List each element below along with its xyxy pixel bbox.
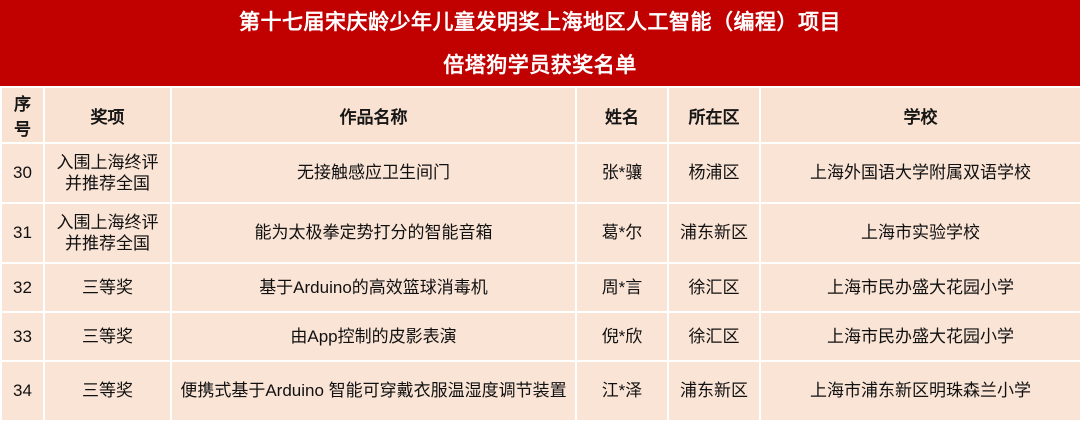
cell-school: 上海市浦东新区明珠森兰小学: [760, 361, 1080, 421]
table-row: 30 入围上海终评并推荐全国 无接触感应卫生间门 张*骧 杨浦区 上海外国语大学…: [1, 143, 1080, 203]
cell-index: 33: [1, 312, 44, 361]
column-header-school: 学校: [760, 87, 1080, 143]
cell-name: 张*骧: [576, 143, 668, 203]
title-banner: 第十七届宋庆龄少年儿童发明奖上海地区人工智能（编程）项目 倍塔狗学员获奖名单: [0, 0, 1080, 86]
column-header-index: 序号: [1, 87, 44, 143]
column-header-award: 奖项: [44, 87, 171, 143]
cell-district: 杨浦区: [668, 143, 760, 203]
table-row: 32 三等奖 基于Arduino的高效篮球消毒机 周*言 徐汇区 上海市民办盛大…: [1, 263, 1080, 312]
table-header: 序号 奖项 作品名称 姓名 所在区 学校: [1, 87, 1080, 143]
cell-district: 徐汇区: [668, 312, 760, 361]
cell-district: 浦东新区: [668, 203, 760, 263]
banner-title-primary: 第十七届宋庆龄少年儿童发明奖上海地区人工智能（编程）项目: [239, 11, 841, 34]
award-table: 序号 奖项 作品名称 姓名 所在区 学校 30 入围上海终评并推荐全国 无接触感…: [0, 86, 1080, 422]
cell-school: 上海市民办盛大花园小学: [760, 263, 1080, 312]
table-row: 34 三等奖 便携式基于Arduino 智能可穿戴衣服温湿度调节装置 江*泽 浦…: [1, 361, 1080, 421]
cell-award: 三等奖: [44, 263, 171, 312]
cell-district: 浦东新区: [668, 361, 760, 421]
cell-work: 能为太极拳定势打分的智能音箱: [171, 203, 576, 263]
cell-school: 上海市实验学校: [760, 203, 1080, 263]
table-row: 33 三等奖 由App控制的皮影表演 倪*欣 徐汇区 上海市民办盛大花园小学: [1, 312, 1080, 361]
table-body: 30 入围上海终评并推荐全国 无接触感应卫生间门 张*骧 杨浦区 上海外国语大学…: [1, 143, 1080, 421]
cell-school: 上海外国语大学附属双语学校: [760, 143, 1080, 203]
table-header-row: 序号 奖项 作品名称 姓名 所在区 学校: [1, 87, 1080, 143]
column-header-work: 作品名称: [171, 87, 576, 143]
cell-name: 葛*尔: [576, 203, 668, 263]
cell-work: 无接触感应卫生间门: [171, 143, 576, 203]
cell-index: 31: [1, 203, 44, 263]
table-row: 31 入围上海终评并推荐全国 能为太极拳定势打分的智能音箱 葛*尔 浦东新区 上…: [1, 203, 1080, 263]
cell-work: 由App控制的皮影表演: [171, 312, 576, 361]
cell-award: 三等奖: [44, 361, 171, 421]
award-line-1: 入围上海终评: [57, 213, 159, 232]
cell-district: 徐汇区: [668, 263, 760, 312]
banner-title-secondary: 倍塔狗学员获奖名单: [443, 54, 637, 77]
cell-index: 32: [1, 263, 44, 312]
cell-award: 入围上海终评并推荐全国: [44, 203, 171, 263]
award-line-1: 入围上海终评: [57, 153, 159, 172]
column-header-name: 姓名: [576, 87, 668, 143]
cell-school: 上海市民办盛大花园小学: [760, 312, 1080, 361]
cell-index: 34: [1, 361, 44, 421]
award-list-page: 第十七届宋庆龄少年儿童发明奖上海地区人工智能（编程）项目 倍塔狗学员获奖名单 序…: [0, 0, 1080, 405]
cell-name: 周*言: [576, 263, 668, 312]
cell-award: 入围上海终评并推荐全国: [44, 143, 171, 203]
cell-award: 三等奖: [44, 312, 171, 361]
award-line-2: 并推荐全国: [65, 234, 150, 253]
award-line-2: 并推荐全国: [65, 174, 150, 193]
cell-work: 便携式基于Arduino 智能可穿戴衣服温湿度调节装置: [171, 361, 576, 421]
cell-index: 30: [1, 143, 44, 203]
cell-work: 基于Arduino的高效篮球消毒机: [171, 263, 576, 312]
column-header-district: 所在区: [668, 87, 760, 143]
cell-name: 倪*欣: [576, 312, 668, 361]
cell-name: 江*泽: [576, 361, 668, 421]
